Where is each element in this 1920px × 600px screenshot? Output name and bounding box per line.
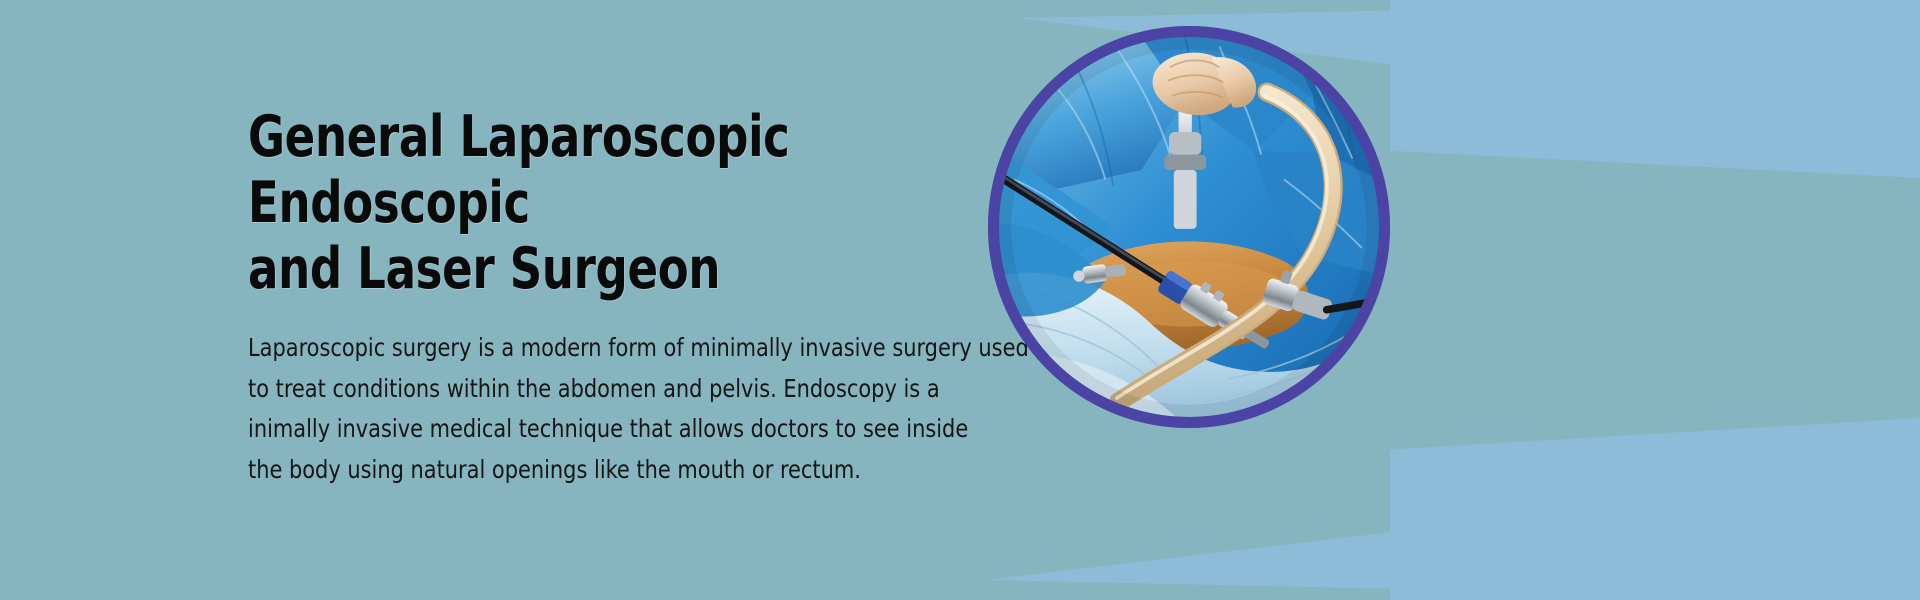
description-line: the body using natural openings like the… xyxy=(248,450,936,491)
description-line: inimally invasive medical technique that… xyxy=(248,409,936,450)
surgery-photo-medallion xyxy=(988,26,1390,428)
description-line: to treat conditions within the abdomen a… xyxy=(248,369,936,410)
page-title: General Laparoscopic Endoscopic and Lase… xyxy=(248,104,899,302)
hero-description: Laparoscopic surgery is a modern form of… xyxy=(248,328,936,490)
description-line: Laparoscopic surgery is a modern form of… xyxy=(248,328,936,369)
hero-banner: General Laparoscopic Endoscopic and Lase… xyxy=(0,0,1920,600)
hero-text-column: General Laparoscopic Endoscopic and Lase… xyxy=(248,104,988,490)
surgery-photo xyxy=(999,37,1379,417)
